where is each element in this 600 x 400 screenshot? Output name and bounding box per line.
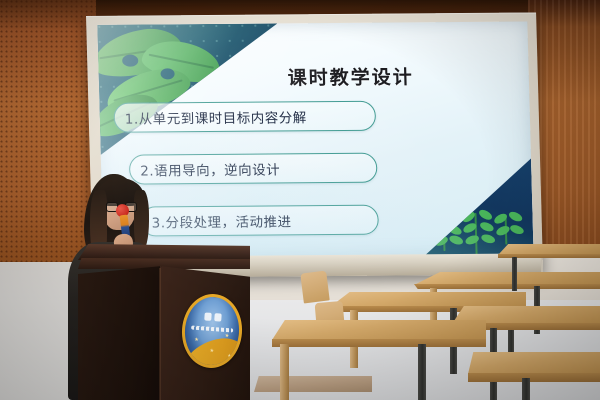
emblem-wordmark xyxy=(191,326,233,333)
slide-bullet-3-label: 3.分段处理，活动推进 xyxy=(151,210,291,231)
lectern: ★ ★ ★ ★ xyxy=(78,244,250,400)
slide-bullet-1: 1.从单元到课时目标内容分解 xyxy=(113,101,376,133)
slide-title: 课时教学设计 xyxy=(98,62,529,92)
lectern-seam xyxy=(159,268,161,400)
lectern-left-panel xyxy=(78,266,162,400)
foliage-bottom-right-icon xyxy=(413,158,534,255)
classroom-scene: 课时教学设计 1.从单元到课时目标内容分解 2.语用导向，逆向设计 3.分段处理… xyxy=(0,0,600,400)
emblem-glyphs xyxy=(204,312,222,321)
slide-bullet-1-label: 1.从单元到课时目标内容分解 xyxy=(124,106,306,127)
slide-bullet-2: 2.语用导向，逆向设计 xyxy=(129,153,378,185)
slide-bullet-3: 3.分段处理，活动推进 xyxy=(140,205,379,237)
lectern-top xyxy=(78,244,250,260)
